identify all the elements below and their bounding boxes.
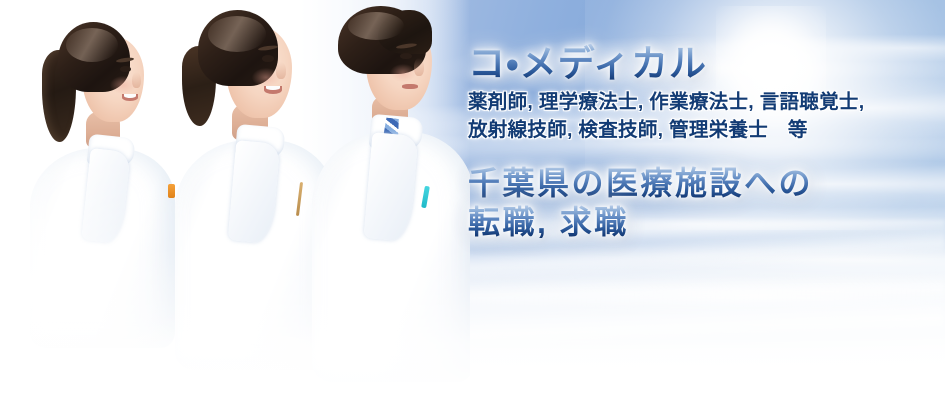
- hair-highlight: [208, 16, 266, 52]
- page-title: コ・メディカル: [468, 44, 928, 84]
- medical-staff-photo: [0, 0, 470, 400]
- mouth: [402, 84, 418, 89]
- profession-line: 放射線技師, 検査技師, 管理栄養士 等: [468, 117, 928, 145]
- eye: [262, 55, 274, 62]
- banner-subheading: 千葉県の医療施設への 転職, 求職: [468, 166, 928, 239]
- eye: [400, 53, 412, 59]
- name-badge-icon: [168, 184, 175, 198]
- subheading-line-1: 千葉県の医療施設への: [468, 166, 928, 201]
- cheek-blush: [252, 68, 280, 87]
- banner-copy: コ・メディカル 薬剤師, 理学療法士, 作業療法士, 言語聴覚士, 放射線技師,…: [468, 44, 928, 239]
- teeth: [124, 94, 136, 98]
- hair-highlight: [348, 12, 404, 40]
- profession-line: 薬剤師, 理学療法士, 作業療法士, 言語聴覚士,: [468, 89, 928, 117]
- hair-highlight: [66, 28, 118, 62]
- subheading-line-2: 転職, 求職: [468, 205, 928, 240]
- eye: [120, 66, 131, 72]
- teeth: [266, 86, 280, 90]
- cheek-blush: [110, 76, 136, 94]
- profession-list: 薬剤師, 理学療法士, 作業療法士, 言語聴覚士, 放射線技師, 検査技師, 管…: [468, 89, 928, 144]
- hero-banner: コ・メディカル 薬剤師, 理学療法士, 作業療法士, 言語聴覚士, 放射線技師,…: [0, 0, 945, 400]
- cheek-shading: [390, 64, 416, 82]
